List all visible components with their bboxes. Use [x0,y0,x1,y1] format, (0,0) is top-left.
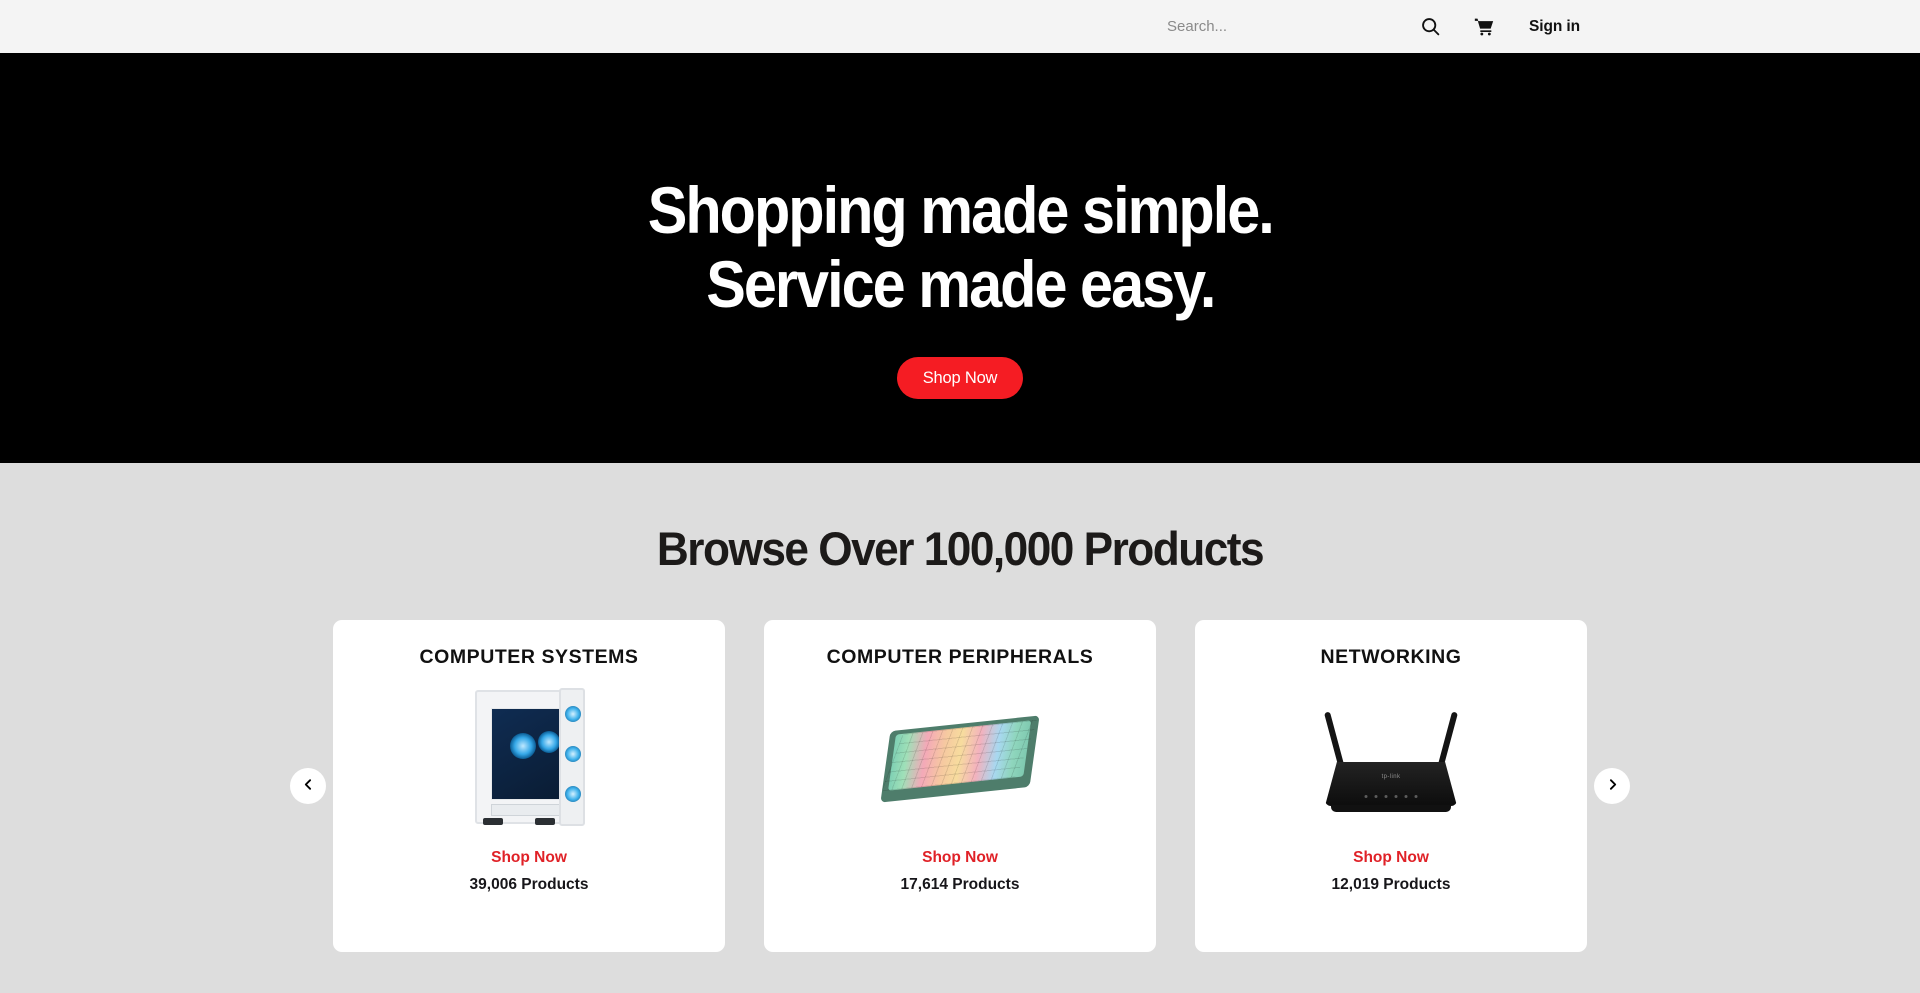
sign-in-link[interactable]: Sign in [1529,18,1580,36]
site-header: Sign in [0,0,1920,53]
hero-shop-now-button[interactable]: Shop Now [897,357,1024,399]
carousel-next-button[interactable] [1594,768,1630,804]
category-card-title: COMPUTER SYSTEMS [420,646,639,669]
chevron-left-icon [302,778,315,794]
category-card-computer-systems[interactable]: COMPUTER SYSTEMS [333,620,725,952]
category-card-title: COMPUTER PERIPHERALS [827,646,1094,669]
shopping-cart-icon [1474,17,1494,37]
search-button[interactable] [1403,7,1457,47]
category-shop-now-link[interactable]: Shop Now [491,849,567,867]
cart-button[interactable] [1457,7,1511,47]
desktop-pc-tower-image [447,683,612,835]
carousel-prev-button[interactable] [290,768,326,804]
category-card-title: NETWORKING [1321,646,1462,669]
hero-banner: Shopping made simple. Service made easy.… [0,53,1920,463]
hero-title-line-1: Shopping made simple. [647,173,1272,247]
hero-title-line-2: Service made easy. [647,247,1272,321]
search-input[interactable] [1163,10,1403,44]
category-carousel: COMPUTER SYSTEMS [0,620,1920,952]
chevron-right-icon [1606,778,1619,794]
category-card-networking[interactable]: NETWORKING tp-link Shop Now 12,019 Produ… [1195,620,1587,952]
category-shop-now-link[interactable]: Shop Now [1353,849,1429,867]
browse-heading: Browse Over 100,000 Products [58,521,1863,576]
category-product-count: 39,006 Products [470,876,589,894]
wireless-router-image: tp-link [1309,683,1474,835]
search-icon [1420,16,1441,37]
header-tools: Sign in [1163,7,1580,47]
category-shop-now-link[interactable]: Shop Now [922,849,998,867]
hero-title: Shopping made simple. Service made easy. [647,173,1272,321]
category-card-computer-peripherals[interactable]: COMPUTER PERIPHERALS Shop Now 17,614 Pro… [764,620,1156,952]
browse-categories-section: Browse Over 100,000 Products COMPUTER SY… [0,463,1920,993]
category-product-count: 17,614 Products [901,876,1020,894]
mechanical-keyboard-image [878,683,1043,835]
category-product-count: 12,019 Products [1332,876,1451,894]
search-box[interactable] [1163,10,1403,44]
